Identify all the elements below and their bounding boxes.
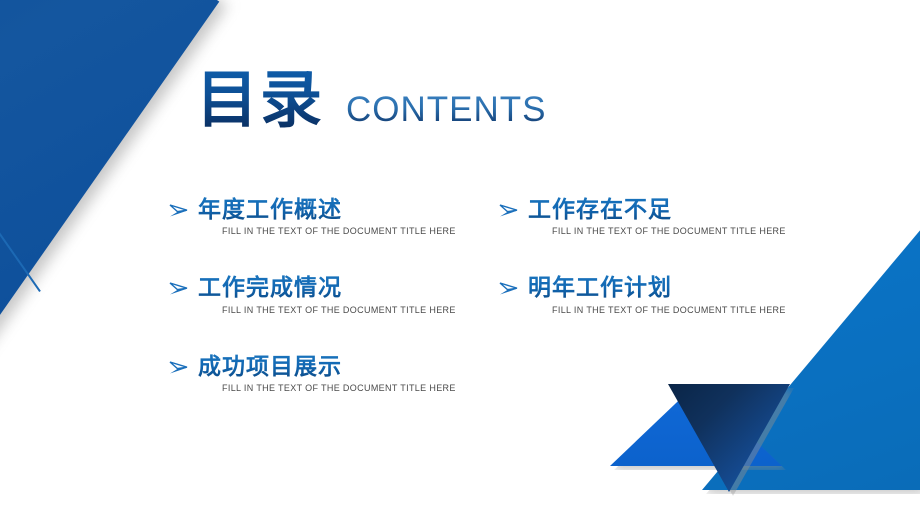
toc-item-heading: 工作完成情况 (198, 274, 456, 300)
contents-row: 成功项目展示 FILL IN THE TEXT OF THE DOCUMENT … (168, 353, 828, 393)
toc-item-next-year-plan[interactable]: 明年工作计划 FILL IN THE TEXT OF THE DOCUMENT … (498, 274, 828, 314)
toc-item-heading: 成功项目展示 (198, 353, 456, 379)
contents-row: 工作完成情况 FILL IN THE TEXT OF THE DOCUMENT … (168, 274, 828, 314)
table-of-contents: 年度工作概述 FILL IN THE TEXT OF THE DOCUMENT … (168, 196, 828, 393)
arrowhead-right-icon (168, 198, 190, 224)
arrowhead-right-icon (498, 198, 520, 224)
page-title-english: CONTENTS (346, 92, 547, 127)
toc-item-heading: 年度工作概述 (198, 196, 456, 222)
slide-title-group: 目录 CONTENTS (196, 70, 547, 132)
toc-item-texts: 成功项目展示 FILL IN THE TEXT OF THE DOCUMENT … (198, 353, 456, 393)
toc-item-successful-projects[interactable]: 成功项目展示 FILL IN THE TEXT OF THE DOCUMENT … (168, 353, 498, 393)
page-title-chinese: 目录 (196, 70, 324, 132)
toc-item-work-completion-status[interactable]: 工作完成情况 FILL IN THE TEXT OF THE DOCUMENT … (168, 274, 498, 314)
toc-item-subtitle: FILL IN THE TEXT OF THE DOCUMENT TITLE H… (552, 226, 786, 236)
toc-item-heading: 明年工作计划 (528, 274, 786, 300)
toc-item-subtitle: FILL IN THE TEXT OF THE DOCUMENT TITLE H… (552, 305, 786, 315)
arrowhead-right-icon (168, 355, 190, 381)
toc-item-subtitle: FILL IN THE TEXT OF THE DOCUMENT TITLE H… (222, 383, 456, 393)
toc-item-texts: 工作存在不足 FILL IN THE TEXT OF THE DOCUMENT … (528, 196, 786, 236)
arrowhead-right-icon (498, 276, 520, 302)
toc-item-texts: 明年工作计划 FILL IN THE TEXT OF THE DOCUMENT … (528, 274, 786, 314)
toc-item-texts: 年度工作概述 FILL IN THE TEXT OF THE DOCUMENT … (198, 196, 456, 236)
contents-row: 年度工作概述 FILL IN THE TEXT OF THE DOCUMENT … (168, 196, 828, 236)
toc-item-subtitle: FILL IN THE TEXT OF THE DOCUMENT TITLE H… (222, 305, 456, 315)
toc-item-heading: 工作存在不足 (528, 196, 786, 222)
presentation-slide: 目录 CONTENTS 年度工作概述 FILL IN THE TEXT OF T… (0, 0, 920, 518)
toc-item-texts: 工作完成情况 FILL IN THE TEXT OF THE DOCUMENT … (198, 274, 456, 314)
toc-item-annual-work-overview[interactable]: 年度工作概述 FILL IN THE TEXT OF THE DOCUMENT … (168, 196, 498, 236)
arrowhead-right-icon (168, 276, 190, 302)
toc-item-work-shortcomings[interactable]: 工作存在不足 FILL IN THE TEXT OF THE DOCUMENT … (498, 196, 828, 236)
toc-item-subtitle: FILL IN THE TEXT OF THE DOCUMENT TITLE H… (222, 226, 456, 236)
